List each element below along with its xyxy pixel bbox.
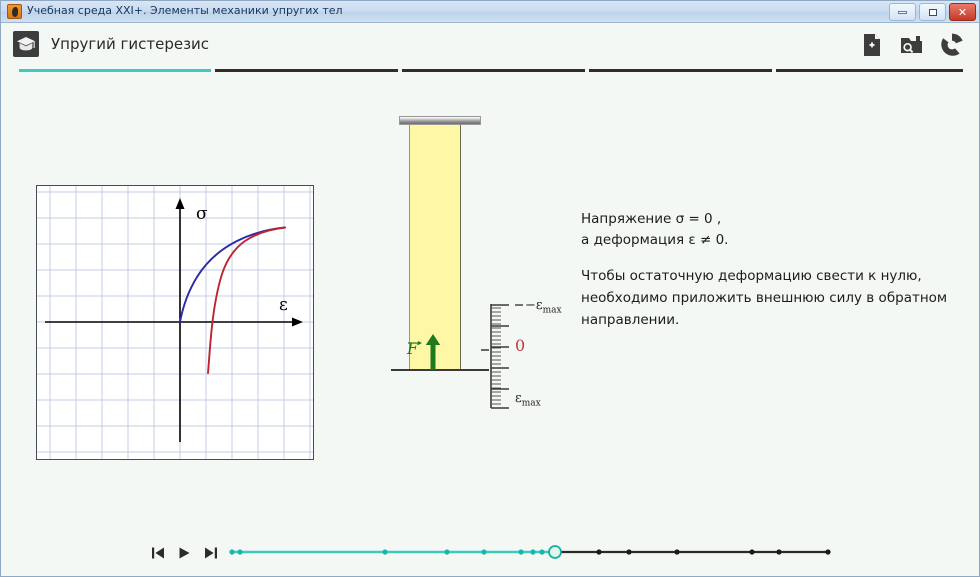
progress-segment-5[interactable]	[776, 69, 963, 72]
flame-shape	[12, 7, 18, 17]
progress-segment-2[interactable]	[215, 69, 398, 72]
step-forward-button[interactable]	[203, 545, 218, 559]
force-label: F	[407, 339, 418, 358]
pie-chart-icon[interactable]	[939, 32, 965, 58]
progress-segment-1[interactable]	[19, 69, 211, 72]
progress-segment-4[interactable]	[589, 69, 772, 72]
scale-label-bottom: εmax	[515, 391, 541, 409]
lesson-progress-bar	[19, 69, 963, 73]
x-axis-label: ε	[279, 295, 288, 315]
app-header: Упругий гистерезис	[1, 23, 979, 65]
explanation-paragraph-line-3: направлении.	[581, 309, 961, 331]
graduation-cap-icon	[13, 31, 39, 57]
explanation-line-2: а деформация ε ≠ 0.	[581, 230, 961, 251]
close-button[interactable]: ✕	[949, 3, 976, 21]
y-axis-label: σ	[196, 204, 208, 224]
close-icon: ✕	[950, 4, 975, 20]
scale-label-top: −εmax	[525, 298, 562, 316]
header-toolbar	[859, 31, 965, 59]
minimize-icon	[890, 4, 915, 20]
window-title: Учебная среда XXI+. Элементы механики уп…	[27, 4, 343, 17]
maximize-icon	[920, 4, 945, 20]
open-folder-search-icon[interactable]	[899, 32, 925, 58]
application-window: Учебная среда XXI+. Элементы механики уп…	[0, 0, 980, 577]
timeline-handle	[549, 546, 561, 558]
footer-strip	[2, 568, 978, 576]
window-controls: ✕	[889, 3, 976, 21]
flame-logo-icon	[7, 4, 22, 19]
x-axis-arrowhead	[292, 318, 303, 327]
maximize-button[interactable]	[919, 3, 946, 21]
new-document-icon[interactable]	[859, 32, 885, 58]
ceiling-plate	[399, 116, 481, 125]
play-button[interactable]	[177, 545, 192, 559]
explanation-line-1: Напряжение σ = 0 ,	[581, 209, 961, 230]
deformation-scale: −εmax 0 εmax	[481, 296, 576, 416]
scale-label-zero: 0	[515, 336, 525, 355]
explanation-paragraph-line-2: необходимо приложить внешнюю силу в обра…	[581, 287, 961, 309]
progress-segment-3[interactable]	[402, 69, 585, 72]
playback-controls	[151, 545, 218, 559]
minimize-button[interactable]	[889, 3, 916, 21]
explanation-panel: Напряжение σ = 0 , а деформация ε ≠ 0. Ч…	[581, 209, 961, 331]
y-axis-arrowhead	[176, 198, 185, 209]
stress-strain-chart: σ ε	[36, 185, 314, 460]
step-back-button[interactable]	[151, 545, 166, 559]
force-arrow-icon	[425, 334, 441, 374]
unloading-curve	[208, 228, 285, 374]
timeline-slider[interactable]	[229, 544, 834, 560]
title-bar: Учебная среда XXI+. Элементы механики уп…	[1, 1, 979, 23]
text-spacer	[581, 251, 961, 265]
page-title: Упругий гистерезис	[51, 35, 209, 53]
explanation-paragraph-line-1: Чтобы остаточную деформацию свести к нул…	[581, 265, 961, 287]
